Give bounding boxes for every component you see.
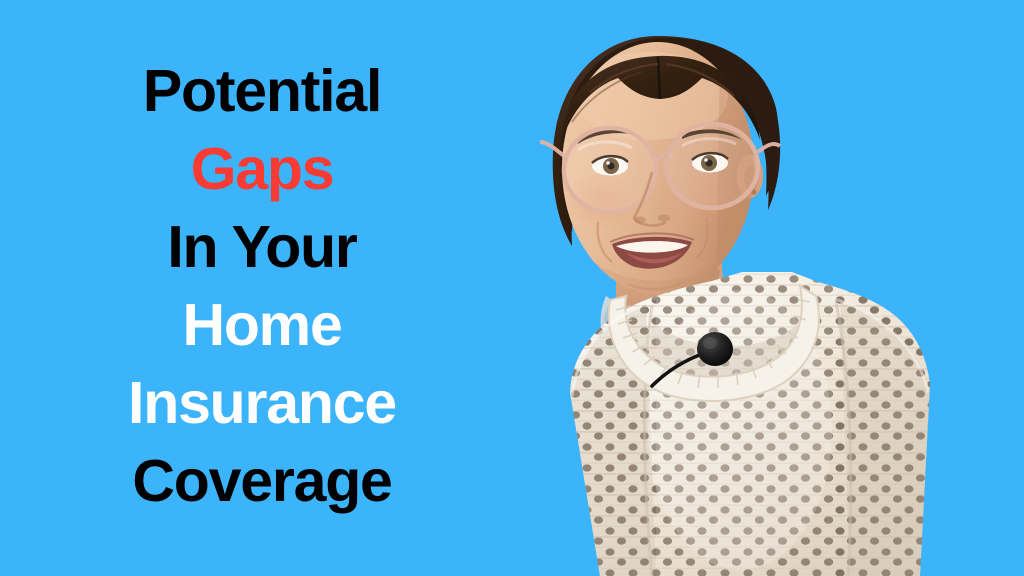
headline-line-6: Coverage (0, 442, 524, 520)
headline-line-1: Potential (0, 52, 524, 130)
headline-line-3: In Your (0, 208, 524, 286)
headline-line-4: Home (0, 286, 524, 364)
headline-text-block: Potential Gaps In Your Home Insurance Co… (0, 52, 524, 520)
headline-line-5: Insurance (0, 364, 524, 442)
thumbnail-canvas: Potential Gaps In Your Home Insurance Co… (0, 0, 1024, 576)
headline-line-2-highlight: Gaps (0, 130, 524, 208)
